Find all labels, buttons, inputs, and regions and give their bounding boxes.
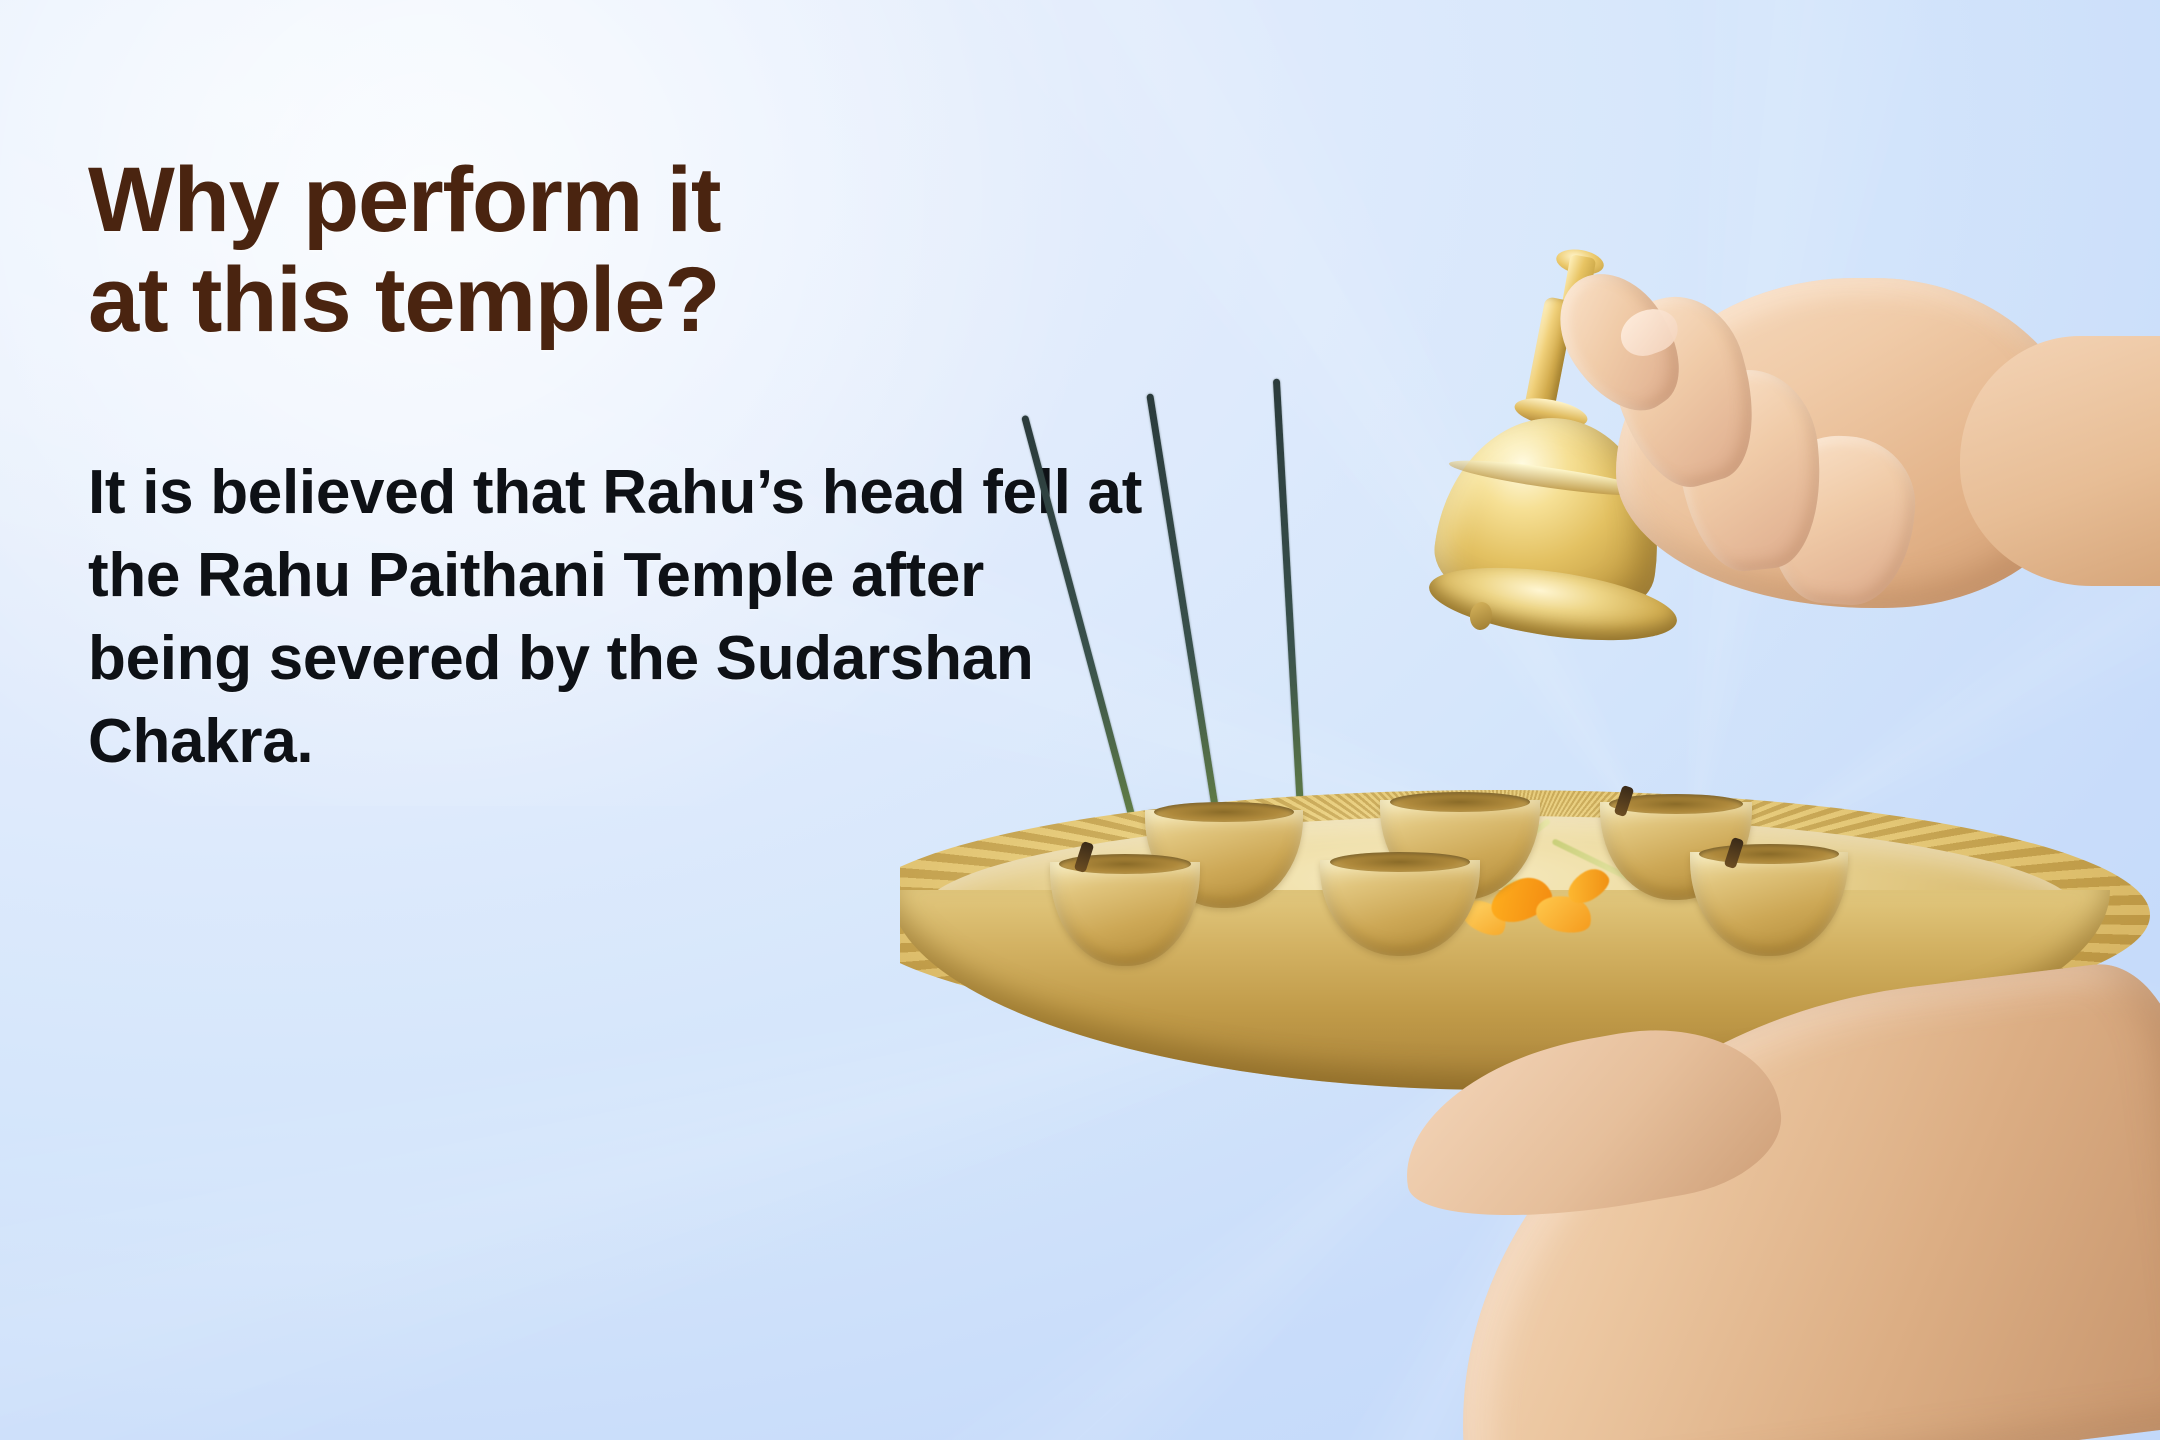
puja-photo (900, 0, 2160, 1440)
hand-holding-bell (1320, 250, 2160, 810)
info-card: Why perform it at this temple? It is bel… (0, 0, 2160, 1440)
